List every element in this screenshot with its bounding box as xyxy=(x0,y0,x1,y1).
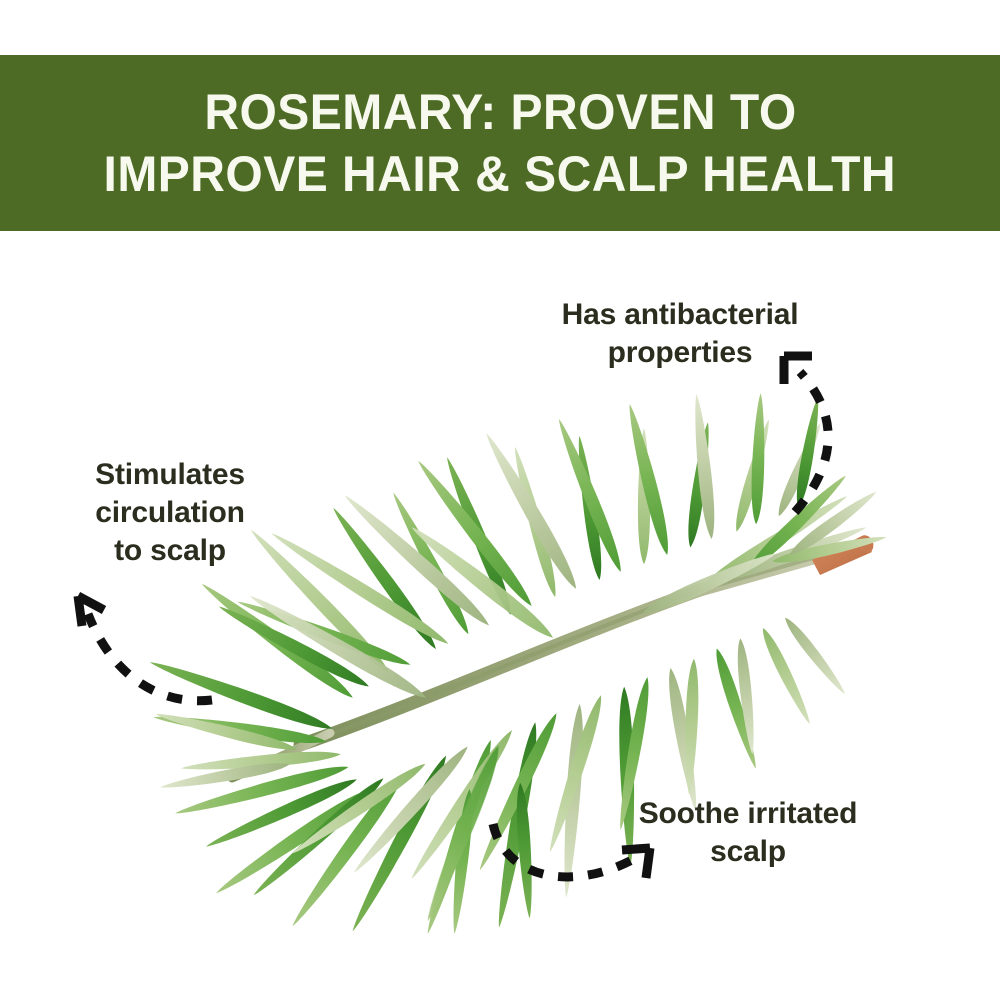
sprig-leaves-lower xyxy=(249,614,849,936)
callout-label-circulation: Stimulates circulation to scalp xyxy=(45,456,295,570)
callout-label-antibacterial: Has antibacterial properties xyxy=(500,296,860,372)
infographic-page: ROSEMARY: PROVEN TO IMPROVE HAIR & SCALP… xyxy=(0,0,1000,1000)
header-title-line-1: ROSEMARY: PROVEN TO xyxy=(204,81,796,143)
callout-label-soothe: Soothe irritated scalp xyxy=(588,795,908,871)
header-banner: ROSEMARY: PROVEN TO IMPROVE HAIR & SCALP… xyxy=(0,55,1000,231)
header-title-line-2: IMPROVE HAIR & SCALP HEALTH xyxy=(104,143,897,205)
